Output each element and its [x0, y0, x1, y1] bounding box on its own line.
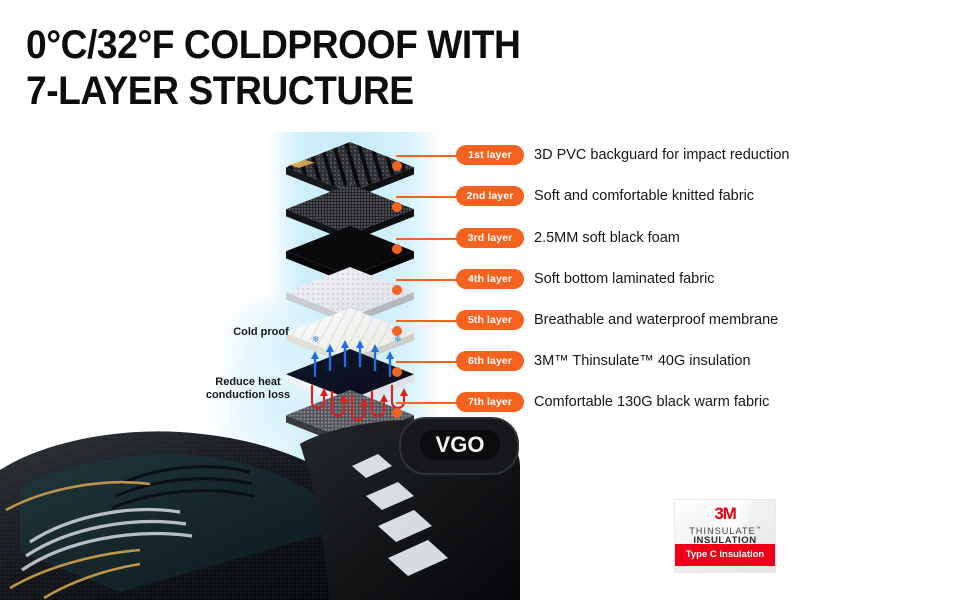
leader-line — [396, 279, 458, 281]
glove-product-image: VGO — [0, 392, 520, 600]
layer-description: Comfortable 130G black warm fabric — [534, 391, 769, 413]
layer-badge: 4th layer — [456, 269, 524, 289]
leader-dot-icon — [392, 161, 402, 171]
layer-description: Soft and comfortable knitted fabric — [534, 185, 754, 207]
leader-line — [396, 238, 458, 240]
type-c-banner: Type C insulation — [675, 544, 775, 566]
infographic-canvas: 0°C/32°F COLDPROOF WITH 7-LAYER STRUCTUR… — [0, 0, 970, 600]
glove-illustration: VGO — [0, 392, 520, 600]
leader-line — [396, 320, 458, 322]
layer-description: Breathable and waterproof membrane — [534, 309, 778, 331]
glove-brand-label: VGO — [436, 432, 485, 457]
3m-logo-text: 3M — [675, 505, 775, 523]
layer-description: Soft bottom laminated fabric — [534, 268, 715, 290]
leader-dot-icon — [392, 202, 402, 212]
layer-badge: 5th layer — [456, 310, 524, 330]
layer-badge: 3rd layer — [456, 228, 524, 248]
leader-line — [396, 155, 458, 157]
thinsulate-logo-badge: 3M THINSULATE™ INSULATION Type C insulat… — [675, 500, 775, 572]
layer-description: 2.5MM soft black foam — [534, 227, 680, 249]
layer-description: 3D PVC backguard for impact reduction — [534, 144, 790, 166]
glove-wrist-strap: VGO — [400, 418, 518, 474]
leader-line — [396, 361, 458, 363]
layer-badge: 2nd layer — [456, 186, 524, 206]
leader-dot-icon — [392, 285, 402, 295]
leader-dot-icon — [392, 367, 402, 377]
callout-cold-proof: Cold proof — [228, 326, 294, 339]
layer-description: 3M™ Thinsulate™ 40G insulation — [534, 350, 751, 372]
layer-badge: 1st layer — [456, 145, 524, 165]
layer-badge: 6th layer — [456, 351, 524, 371]
leader-line — [396, 196, 458, 198]
leader-dot-icon — [392, 244, 402, 254]
leader-dot-icon — [392, 326, 402, 336]
page-title: 0°C/32°F COLDPROOF WITH 7-LAYER STRUCTUR… — [26, 22, 677, 114]
trademark-icon: ™ — [756, 526, 761, 532]
